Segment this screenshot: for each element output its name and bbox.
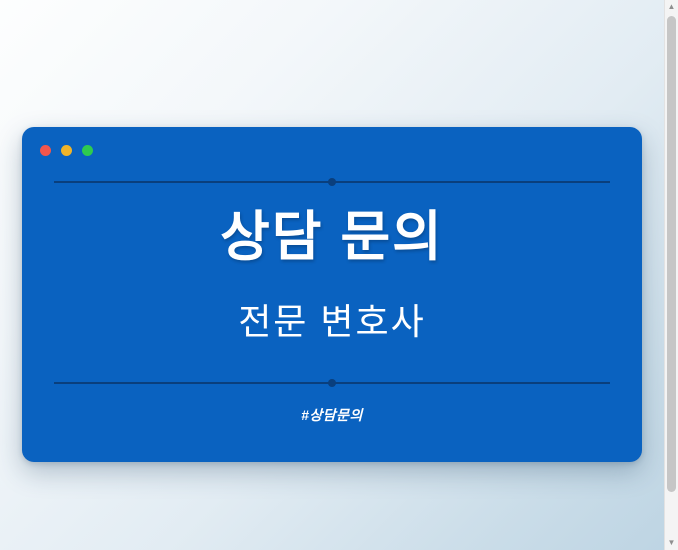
- rule-node-bottom: [328, 379, 336, 387]
- scroll-up-arrow-icon[interactable]: ▲: [665, 0, 678, 14]
- decorative-rule-bottom: [54, 378, 610, 388]
- slide-subtitle: 전문 변호사: [22, 302, 642, 342]
- vertical-scrollbar[interactable]: ▲ ▼: [664, 0, 678, 550]
- scroll-down-arrow-icon[interactable]: ▼: [665, 536, 678, 550]
- slide-window: 상담 문의 전문 변호사 #상담문의: [22, 127, 642, 462]
- scrollbar-thumb[interactable]: [667, 16, 676, 492]
- slide-title: 상담 문의: [22, 209, 642, 266]
- page-root: 상담 문의 전문 변호사 #상담문의 ▲ ▼: [0, 0, 678, 550]
- slide-hashtag: #상담문의: [22, 405, 642, 425]
- slide-content: 상담 문의 전문 변호사 #상담문의: [22, 127, 642, 462]
